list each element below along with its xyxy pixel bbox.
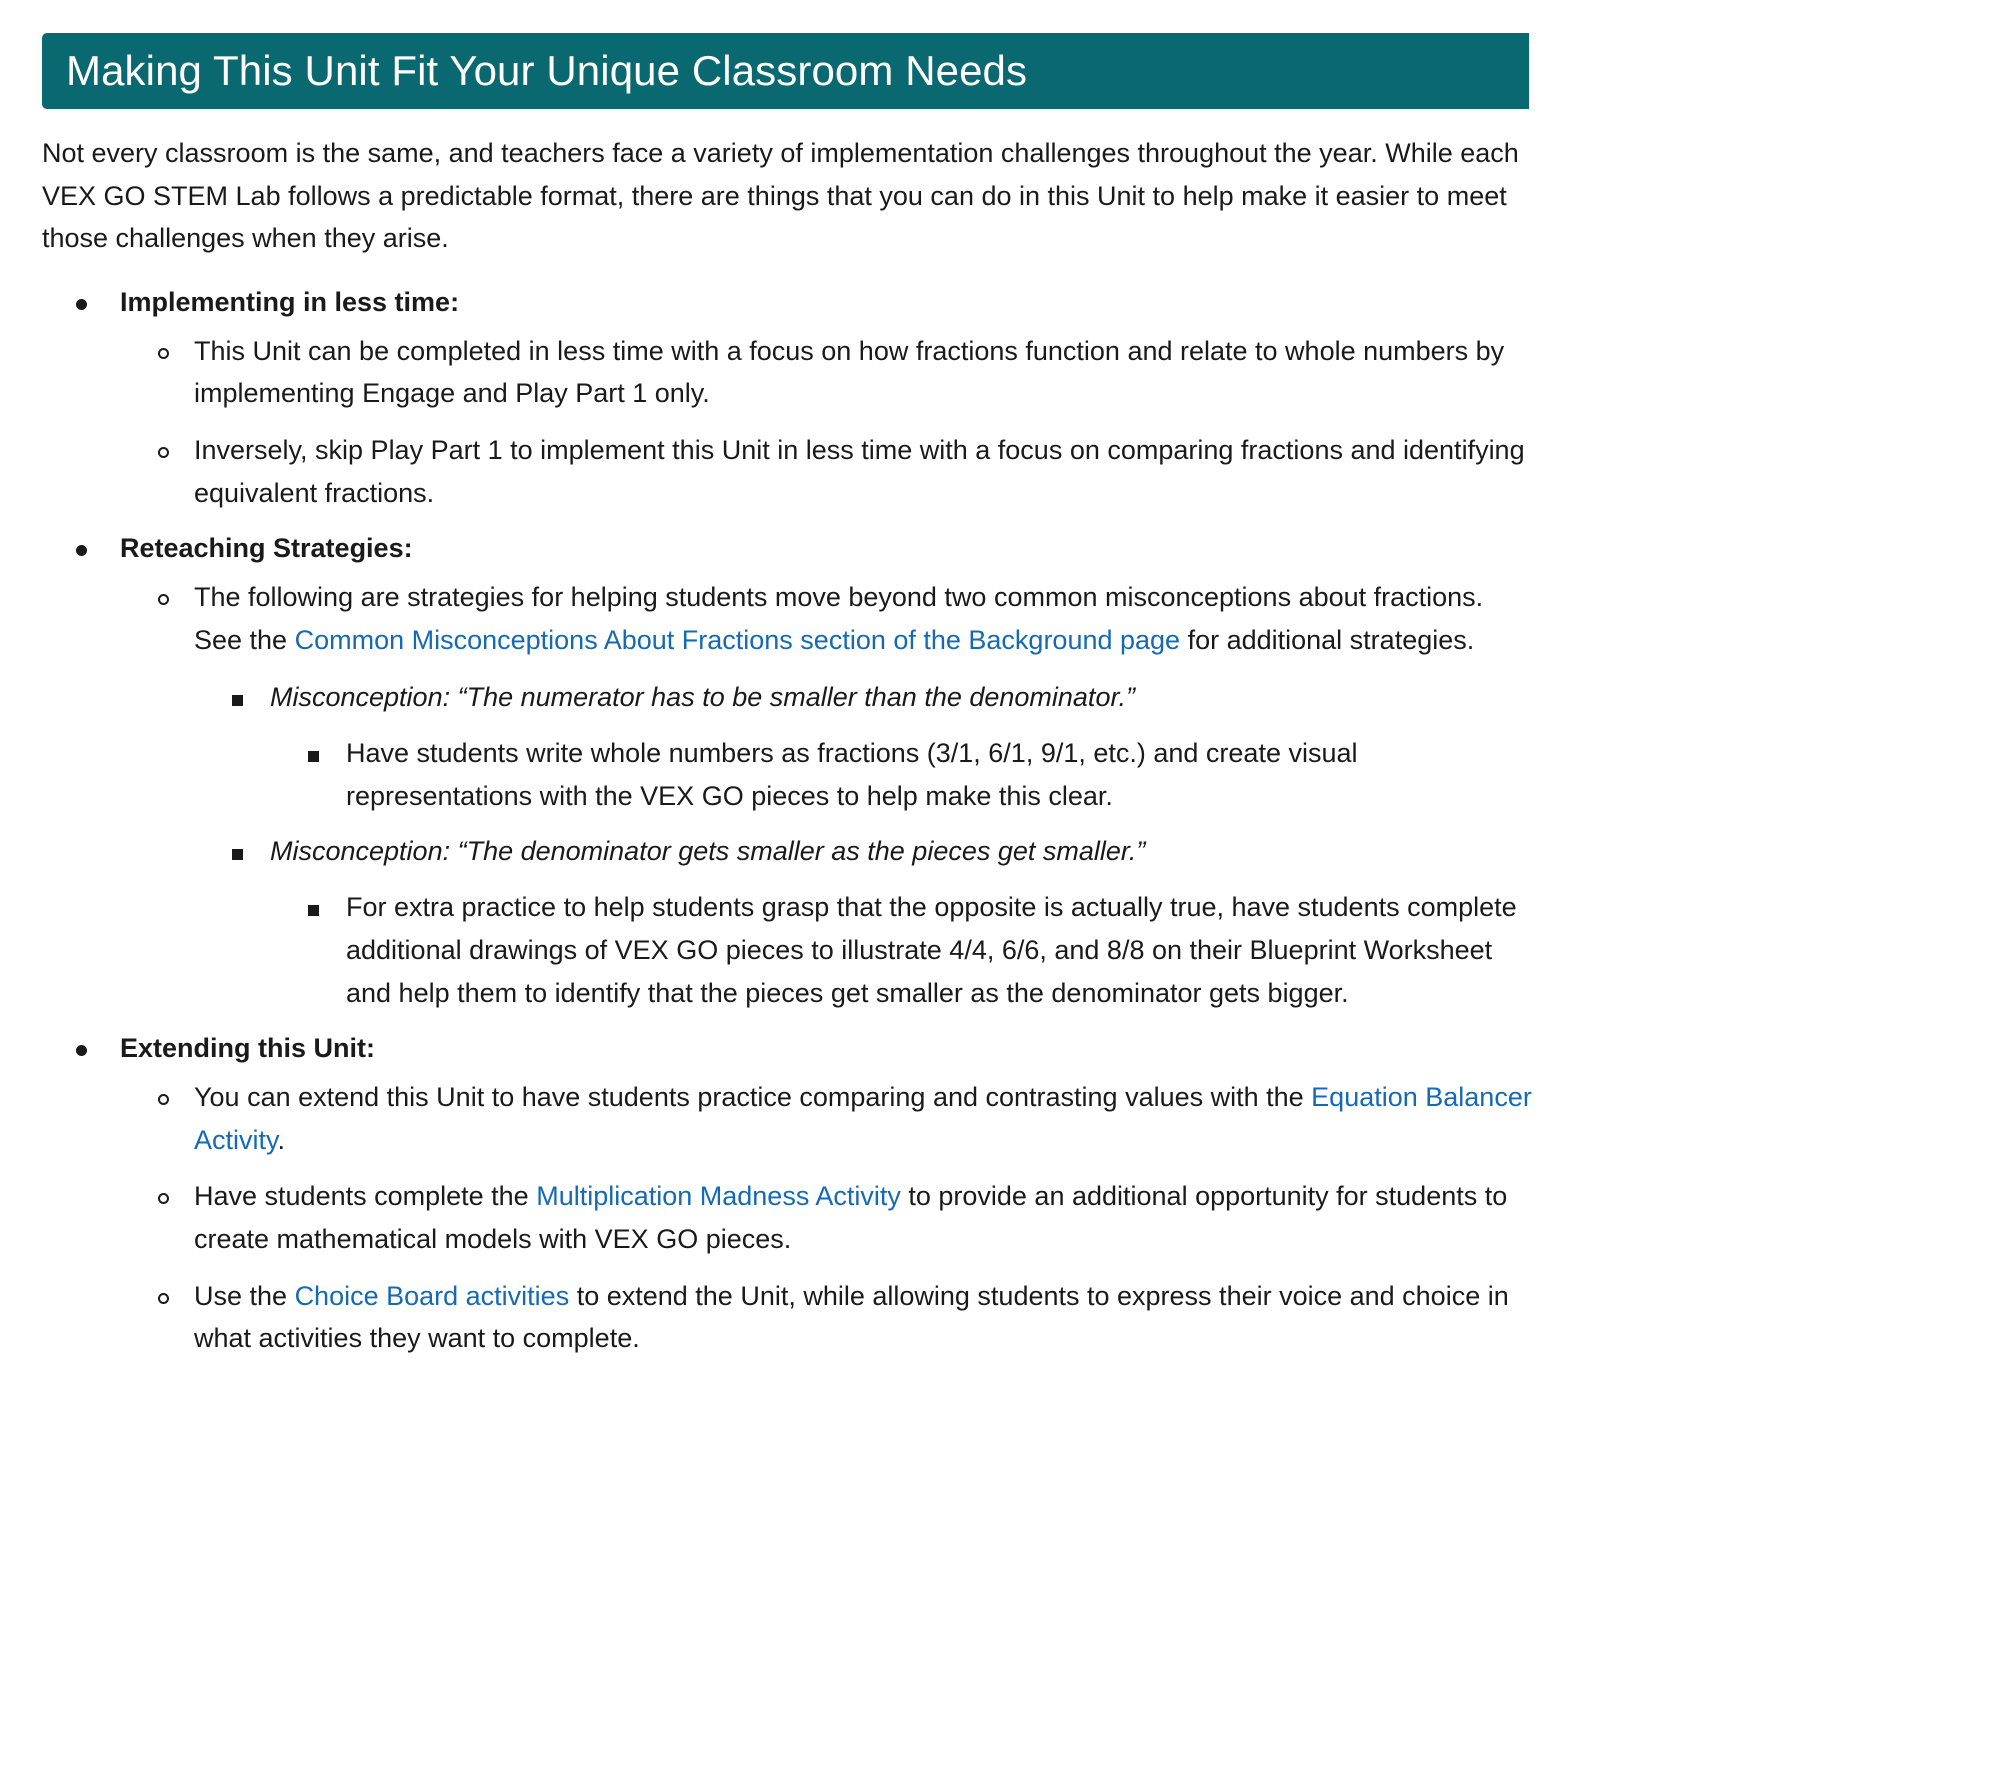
- main-bullet-list: Implementing in less time: This Unit can…: [42, 282, 1532, 1360]
- misconception-detail-text: Have students write whole numbers as fra…: [346, 732, 1532, 817]
- list-item-extending-this-unit: Extending this Unit: You can extend this…: [42, 1028, 1532, 1360]
- list-item-text: You can extend this Unit to have student…: [194, 1076, 1532, 1161]
- disc-bullet-icon: [76, 545, 87, 556]
- circle-bullet-icon: [158, 1293, 169, 1304]
- circle-bullet-icon: [158, 348, 169, 359]
- misconception-detail-list: Have students write whole numbers as fra…: [270, 732, 1532, 817]
- list-item: Inversely, skip Play Part 1 to implement…: [120, 429, 1532, 514]
- page-title: Making This Unit Fit Your Unique Classro…: [66, 50, 1027, 92]
- list-item-reteaching-strategies: Reteaching Strategies: The following are…: [42, 528, 1532, 1014]
- text-after-link: .: [278, 1125, 286, 1155]
- square-bullet-icon: [308, 751, 319, 762]
- section-label: Reteaching Strategies:: [120, 528, 1532, 570]
- misconception-heading: Misconception: “The denominator gets sma…: [270, 830, 1532, 873]
- document-page: Making This Unit Fit Your Unique Classro…: [0, 0, 1992, 1786]
- sublist-reteaching: The following are strategies for helping…: [120, 576, 1532, 1014]
- square-bullet-icon: [232, 695, 243, 706]
- circle-bullet-icon: [158, 1193, 169, 1204]
- disc-bullet-icon: [76, 299, 87, 310]
- text-after-link: for additional strategies.: [1180, 625, 1474, 655]
- list-item: The following are strategies for helping…: [120, 576, 1532, 1014]
- section-label: Extending this Unit:: [120, 1028, 1532, 1070]
- list-item-misconception: Misconception: “The denominator gets sma…: [194, 830, 1532, 1015]
- circle-bullet-icon: [158, 594, 169, 605]
- text-before-link: Have students complete the: [194, 1181, 536, 1211]
- list-item-text: Have students complete the Multiplicatio…: [194, 1175, 1532, 1260]
- circle-bullet-icon: [158, 447, 169, 458]
- list-item: Use the Choice Board activities to exten…: [120, 1275, 1532, 1360]
- misconception-detail-list: For extra practice to help students gras…: [270, 886, 1532, 1014]
- list-item: For extra practice to help students gras…: [270, 886, 1532, 1014]
- text-before-link: Use the: [194, 1281, 295, 1311]
- link-choice-board-activities[interactable]: Choice Board activities: [295, 1281, 570, 1311]
- sublist-extending: You can extend this Unit to have student…: [120, 1076, 1532, 1360]
- list-item: You can extend this Unit to have student…: [120, 1076, 1532, 1161]
- list-item: Have students write whole numbers as fra…: [270, 732, 1532, 817]
- link-common-misconceptions-background[interactable]: Common Misconceptions About Fractions se…: [295, 625, 1181, 655]
- list-item-implementing-in-less-time: Implementing in less time: This Unit can…: [42, 282, 1532, 514]
- section-header-bar: Making This Unit Fit Your Unique Classro…: [42, 33, 1529, 109]
- square-bullet-icon: [308, 905, 319, 916]
- list-item-text: Inversely, skip Play Part 1 to implement…: [194, 429, 1532, 514]
- circle-bullet-icon: [158, 1094, 169, 1105]
- misconception-heading: Misconception: “The numerator has to be …: [270, 676, 1532, 719]
- sublist-implementing: This Unit can be completed in less time …: [120, 330, 1532, 515]
- misconception-list: Misconception: “The numerator has to be …: [194, 676, 1532, 1015]
- square-bullet-icon: [232, 849, 243, 860]
- list-item-text: Use the Choice Board activities to exten…: [194, 1275, 1532, 1360]
- document-content: Not every classroom is the same, and tea…: [42, 132, 1532, 1374]
- misconception-detail-text: For extra practice to help students gras…: [346, 886, 1532, 1014]
- link-multiplication-madness-activity[interactable]: Multiplication Madness Activity: [536, 1181, 901, 1211]
- intro-paragraph: Not every classroom is the same, and tea…: [42, 132, 1520, 260]
- text-before-link: You can extend this Unit to have student…: [194, 1082, 1311, 1112]
- section-label: Implementing in less time:: [120, 282, 1532, 324]
- list-item-text: This Unit can be completed in less time …: [194, 330, 1532, 415]
- list-item-misconception: Misconception: “The numerator has to be …: [194, 676, 1532, 818]
- disc-bullet-icon: [76, 1045, 87, 1056]
- list-item: This Unit can be completed in less time …: [120, 330, 1532, 415]
- list-item: Have students complete the Multiplicatio…: [120, 1175, 1532, 1260]
- list-item-text: The following are strategies for helping…: [194, 576, 1532, 661]
